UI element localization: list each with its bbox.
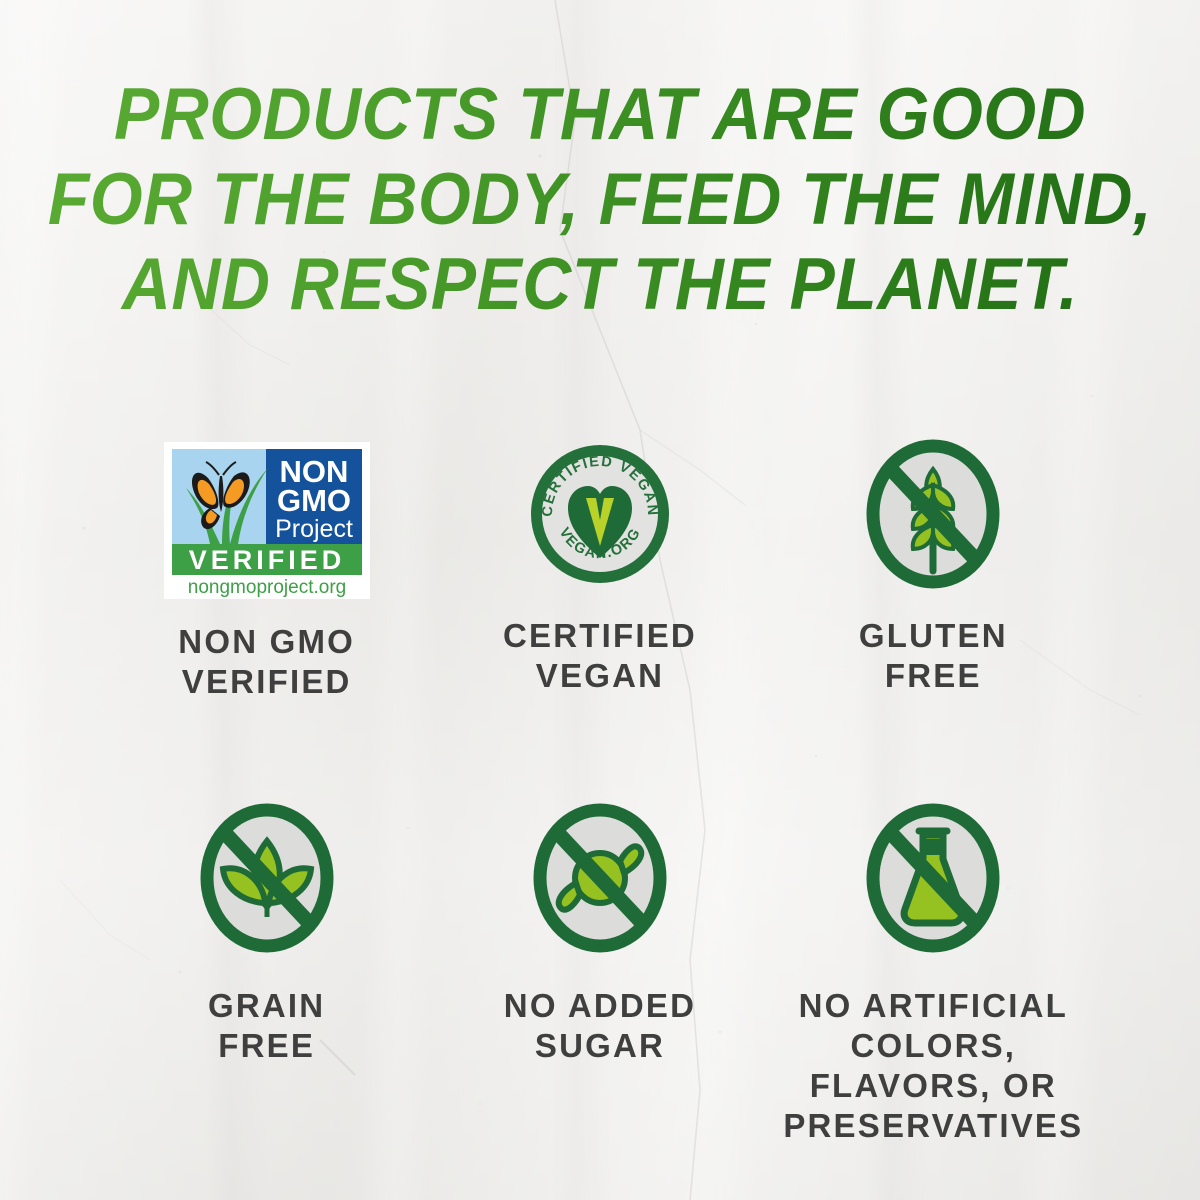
headline-line-1: PRODUCTS THAT ARE GOOD [42, 72, 1158, 157]
badge-certified-vegan: CERTIFIED VEGAN VEGAN.ORG CERTIFIED VEGA… [433, 430, 766, 702]
badge-gluten-free: GLUTEN FREE [767, 430, 1100, 702]
certified-vegan-seal-icon: CERTIFIED VEGAN VEGAN.ORG [528, 430, 672, 598]
non-gmo-project-verified-seal-icon: NON GMO Project VERIFIED nongmoproject.o… [164, 436, 370, 604]
no-candy-icon [530, 798, 670, 958]
badge-label-certified-vegan: CERTIFIED VEGAN [503, 616, 697, 696]
seal-band-verified: VERIFIED [188, 545, 345, 575]
headline-line-3: AND RESPECT THE PLANET. [42, 242, 1158, 327]
badge-grain-free: GRAIN FREE [100, 798, 433, 1146]
badge-label-no-added-sugar: NO ADDED SUGAR [504, 986, 696, 1066]
badge-non-gmo-verified: NON GMO Project VERIFIED nongmoproject.o… [100, 430, 433, 702]
no-flask-icon [863, 798, 1003, 958]
badge-no-added-sugar: NO ADDED SUGAR [433, 798, 766, 1146]
infographic-page: PRODUCTS THAT ARE GOOD FOR THE BODY, FEE… [0, 0, 1200, 1200]
seal-line-project: Project [275, 515, 353, 543]
seal-url: nongmoproject.org [187, 577, 345, 598]
seal-line-gmo: GMO [277, 483, 351, 518]
headline-line-2: FOR THE BODY, FEED THE MIND, [42, 157, 1158, 242]
badge-label-no-artificial: NO ARTIFICIAL COLORS, FLAVORS, OR PRESER… [783, 986, 1083, 1146]
badge-label-gluten-free: GLUTEN FREE [859, 616, 1008, 696]
badge-grid: NON GMO Project VERIFIED nongmoproject.o… [100, 430, 1100, 1146]
badge-label-non-gmo-verified: NON GMO VERIFIED [178, 622, 355, 702]
badge-no-artificial: NO ARTIFICIAL COLORS, FLAVORS, OR PRESER… [767, 798, 1100, 1146]
no-wheat-icon [863, 430, 1003, 598]
page-headline: PRODUCTS THAT ARE GOOD FOR THE BODY, FEE… [42, 72, 1158, 327]
badge-label-grain-free: GRAIN FREE [208, 986, 325, 1066]
no-grain-leaves-icon [197, 798, 337, 958]
